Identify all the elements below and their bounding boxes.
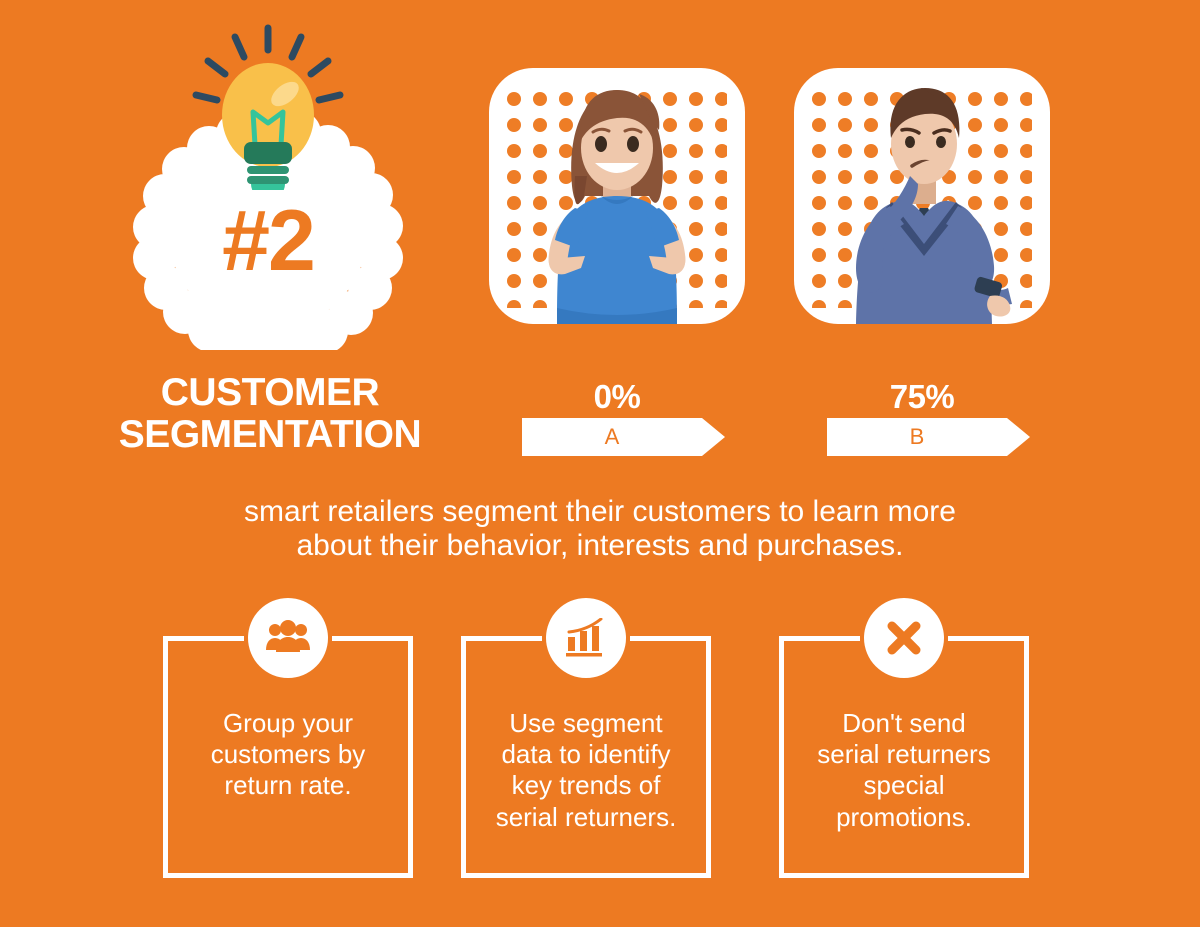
lightbulb-icon (188, 20, 348, 190)
persona-a: 0% A (489, 68, 745, 324)
page-title-line1: CUSTOMER (40, 372, 500, 414)
persona-a-bar-label: A (522, 418, 702, 456)
persona-b-percent: 75% (794, 378, 1050, 416)
tip-text-line1: Use segment (471, 708, 701, 739)
page-title: CUSTOMER SEGMENTATION (40, 372, 500, 456)
tip-text-line2: serial returners (789, 739, 1019, 770)
tip-card-text: Don't send serial returners special prom… (789, 708, 1019, 833)
tip-icon-circle (864, 598, 944, 678)
persona-b-bar: B (827, 418, 1030, 456)
subtitle-line2: about their behavior, interests and purc… (150, 529, 1050, 563)
tip-text-line2: data to identify (471, 739, 701, 770)
tip-card-text: Use segment data to identify key trends … (471, 708, 701, 833)
tip-text-line3: key trends of (471, 770, 701, 801)
bar-chart-trend-icon (565, 618, 607, 658)
tip-text-line4: promotions. (789, 802, 1019, 833)
people-group-icon (265, 619, 311, 657)
persona-b-bar-label: B (827, 418, 1007, 456)
subtitle-line1: smart retailers segment their customers … (150, 495, 1050, 529)
tip-text-line1: Group your (173, 708, 403, 739)
tip-card-identify-trends: Use segment data to identify key trends … (461, 636, 711, 878)
badge-number: #2 (128, 198, 408, 284)
subtitle: smart retailers segment their customers … (150, 495, 1050, 563)
persona-a-card (489, 68, 745, 324)
smiling-woman-illustration (489, 68, 745, 324)
persona-a-bar: A (522, 418, 725, 456)
worried-man-illustration (794, 68, 1050, 324)
tip-icon-circle (546, 598, 626, 678)
tip-text-line3: return rate. (173, 770, 403, 801)
tip-text-line4: serial returners. (471, 802, 701, 833)
tip-icon-circle (248, 598, 328, 678)
tip-text-line1: Don't send (789, 708, 1019, 739)
persona-a-percent: 0% (489, 378, 745, 416)
tip-text-line3: special (789, 770, 1019, 801)
persona-b-card (794, 68, 1050, 324)
badge-block: #2 (128, 20, 408, 350)
persona-b: 75% B (794, 68, 1050, 324)
tip-card-no-promotions: Don't send serial returners special prom… (779, 636, 1029, 878)
page-title-line2: SEGMENTATION (40, 414, 500, 456)
infographic-canvas: #2 CUSTOMER SEGMENTATION (0, 0, 1200, 927)
cross-x-icon (884, 618, 924, 658)
tip-card-group-customers: Group your customers by return rate. (163, 636, 413, 878)
tip-card-text: Group your customers by return rate. (173, 708, 403, 802)
tip-text-line2: customers by (173, 739, 403, 770)
